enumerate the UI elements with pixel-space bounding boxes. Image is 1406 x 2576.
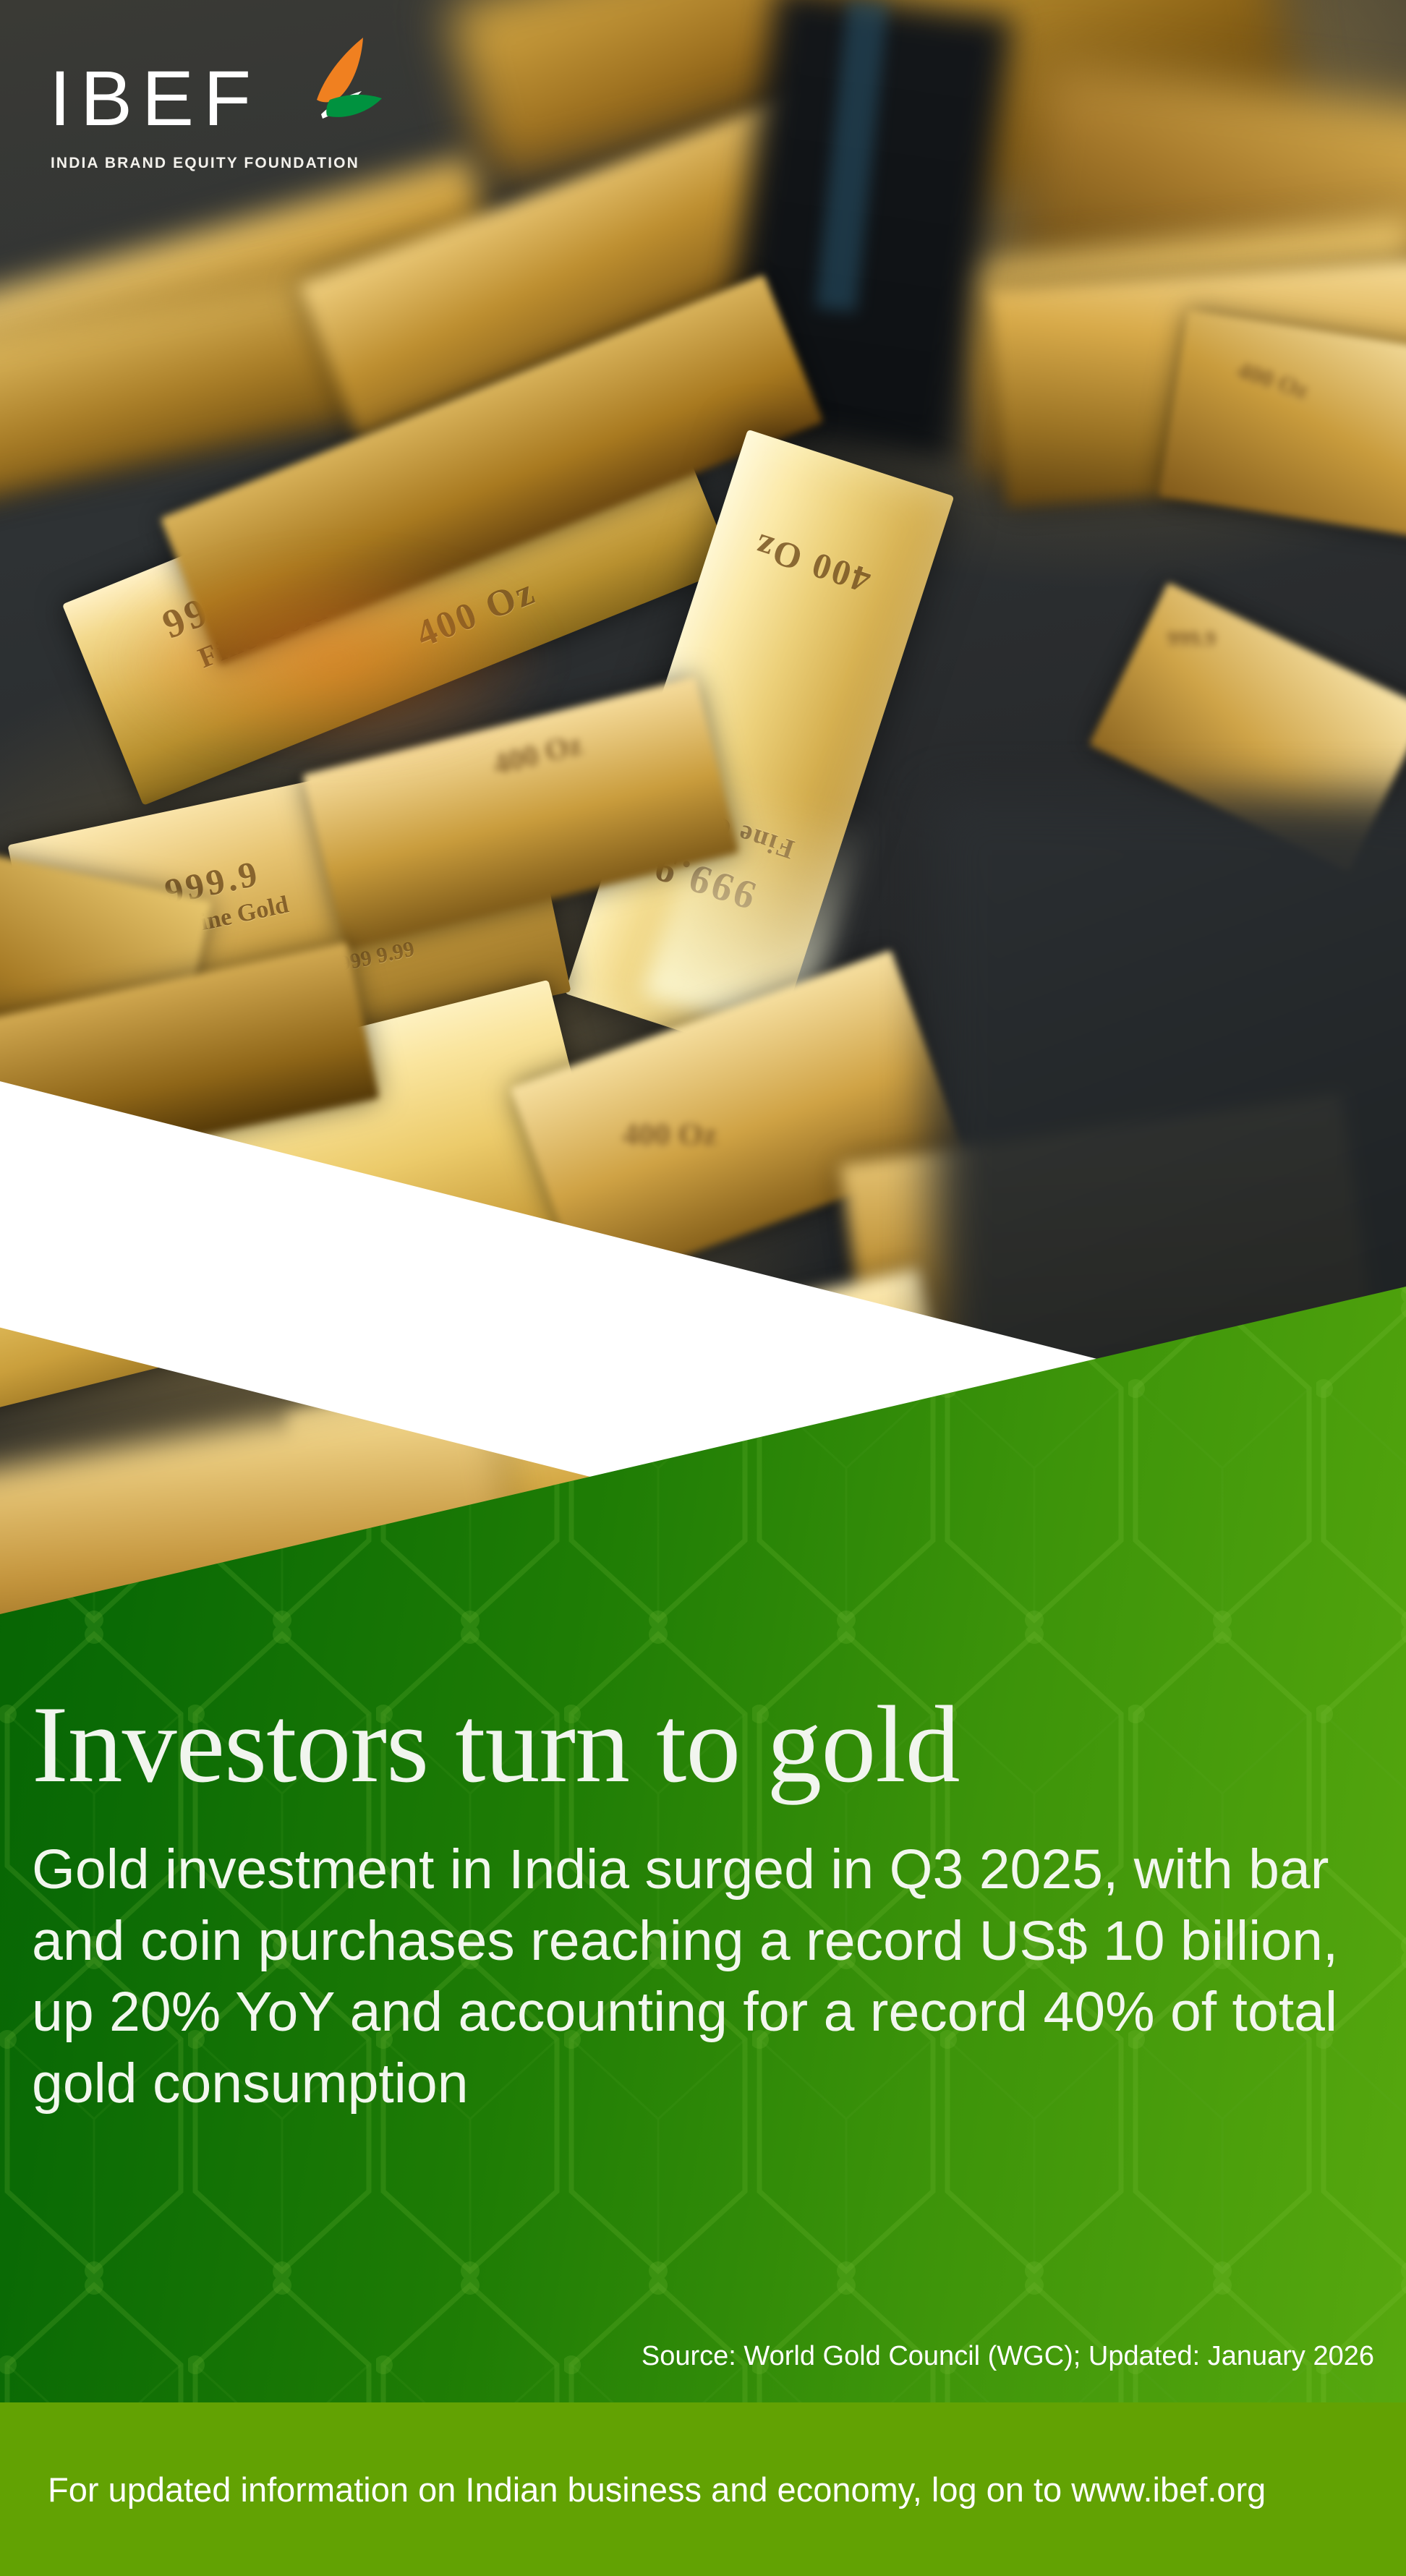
footer-bar: For updated information on Indian busine… [0,2402,1406,2576]
source-attribution: Source: World Gold Council (WGC); Update… [642,2341,1374,2372]
ibef-logo[interactable]: IBEF INDIA BRAND EQUITY FOUNDATION [43,30,383,182]
body-paragraph: Gold investment in India surged in Q3 20… [32,1834,1355,2119]
infographic-poster: 400 Oz 999.9 Fine Gold 400 Oz 400 Oz Fin… [0,0,1406,2576]
content-layer: Investors turn to gold Gold investment i… [0,0,1406,2576]
footer-text[interactable]: For updated information on Indian busine… [48,2402,1266,2576]
page-title: Investors turn to gold [32,1689,1261,1799]
tricolor-swoosh-icon [255,33,383,143]
logo-wordmark: IBEF [49,59,260,137]
logo-tagline: INDIA BRAND EQUITY FOUNDATION [51,155,359,172]
